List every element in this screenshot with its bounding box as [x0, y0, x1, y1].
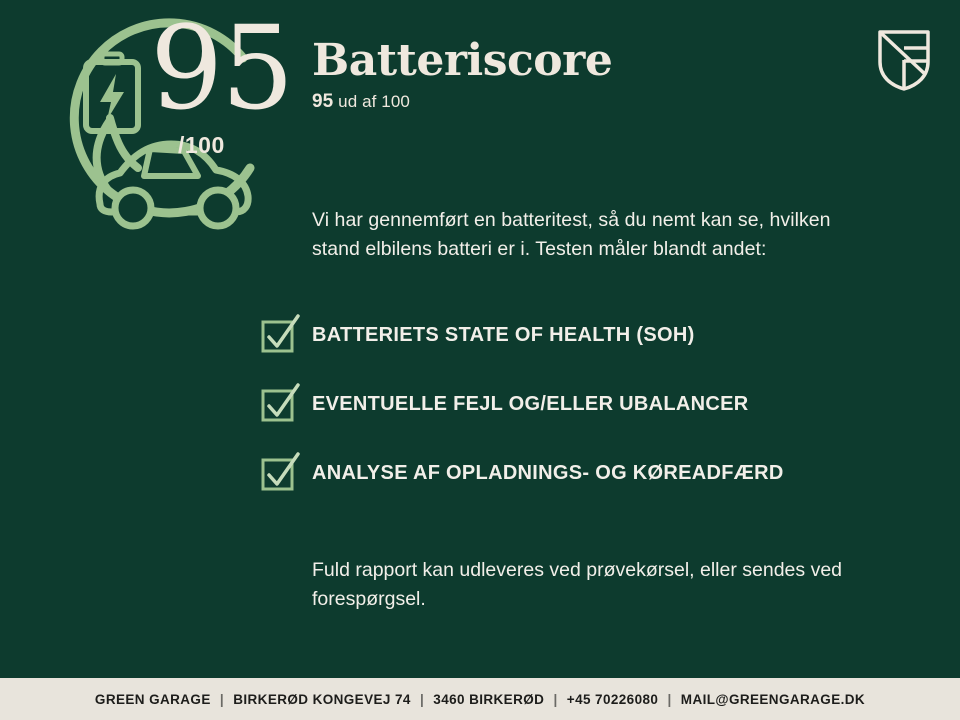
footer-separator: | — [662, 692, 676, 707]
battery-score-card: 95 /100 Batteriscore 95 ud af 100 Vi har… — [0, 0, 960, 720]
subtitle-score: 95 — [312, 91, 333, 112]
subtitle-rest: ud af 100 — [338, 92, 410, 111]
footer-contact-line: GREEN GARAGE | BIRKERØD KONGEVEJ 74 | 34… — [95, 692, 865, 707]
footer-postal-city: 3460 BIRKERØD — [433, 692, 544, 707]
closing-paragraph: Fuld rapport kan udleveres ved prøvekørs… — [312, 556, 842, 615]
checked-checkbox-icon — [260, 382, 308, 426]
score-denominator: /100 — [178, 132, 225, 159]
list-item: ANALYSE AF OPLADNINGS- OG KØREADFÆRD — [260, 446, 860, 500]
green-garage-shield-logo — [876, 28, 932, 92]
footer-company: GREEN GARAGE — [95, 692, 211, 707]
footer-separator: | — [215, 692, 229, 707]
list-item: EVENTUELLE FEJL OG/ELLER UBALANCER — [260, 377, 860, 431]
footer-separator: | — [415, 692, 429, 707]
footer-separator: | — [548, 692, 562, 707]
checked-checkbox-icon — [260, 313, 308, 357]
subtitle: 95 ud af 100 — [312, 91, 612, 113]
footer-email[interactable]: MAIL@GREENGARAGE.DK — [681, 692, 865, 707]
footer-bar: GREEN GARAGE | BIRKERØD KONGEVEJ 74 | 34… — [0, 678, 960, 720]
checklist: BATTERIETS STATE OF HEALTH (SOH) EVENTUE… — [260, 308, 860, 515]
list-item: BATTERIETS STATE OF HEALTH (SOH) — [260, 308, 860, 362]
title-block: Batteriscore 95 ud af 100 — [312, 38, 612, 113]
footer-address: BIRKERØD KONGEVEJ 74 — [233, 692, 411, 707]
page-title: Batteriscore — [312, 38, 612, 84]
score-number: 95 — [150, 12, 292, 127]
list-item-label: ANALYSE AF OPLADNINGS- OG KØREADFÆRD — [312, 462, 784, 485]
checked-checkbox-icon — [260, 451, 308, 495]
footer-phone[interactable]: +45 70226080 — [567, 692, 659, 707]
list-item-label: BATTERIETS STATE OF HEALTH (SOH) — [312, 324, 695, 347]
list-item-label: EVENTUELLE FEJL OG/ELLER UBALANCER — [312, 393, 749, 416]
intro-paragraph: Vi har gennemført en batteritest, så du … — [312, 206, 842, 265]
shield-icon — [876, 28, 932, 92]
